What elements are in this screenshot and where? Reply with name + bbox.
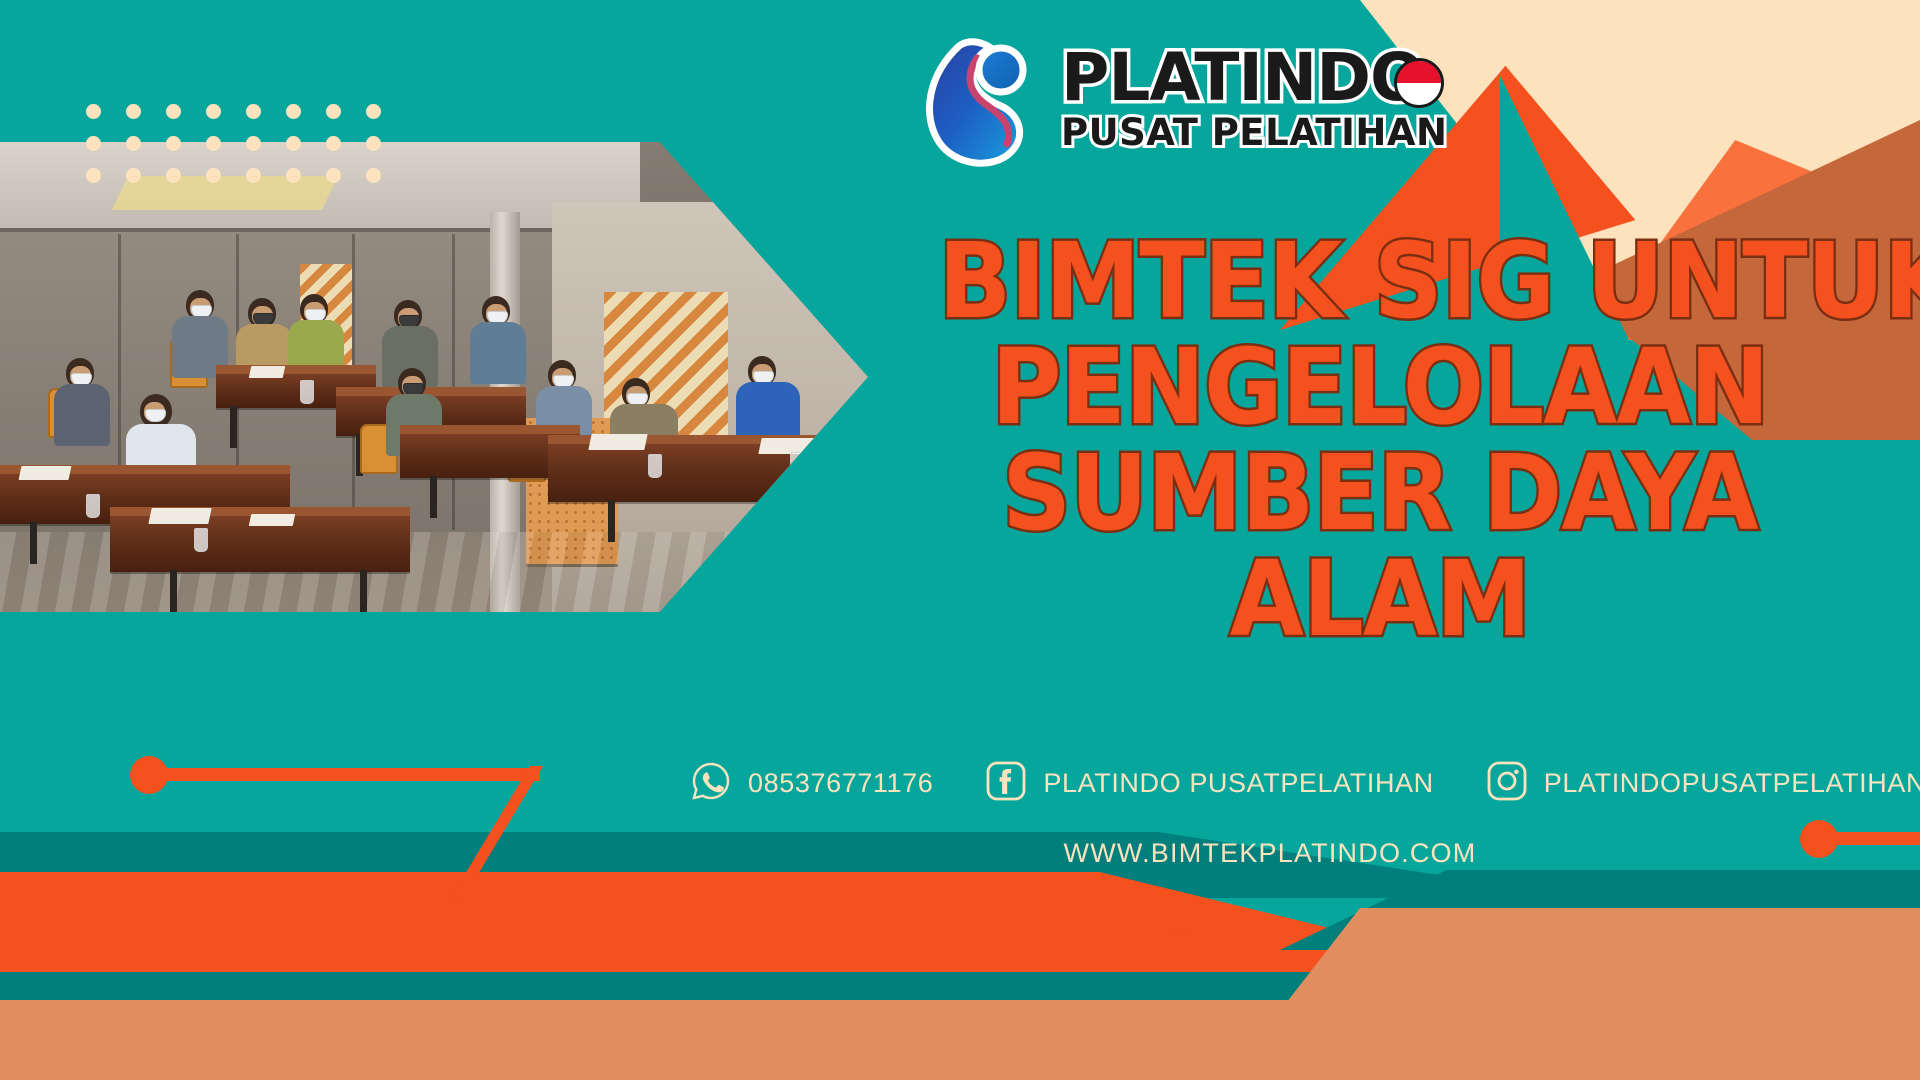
facebook-icon <box>985 760 1027 807</box>
contact-whatsapp[interactable]: 085376771176 <box>690 760 933 807</box>
contact-row: 085376771176 PLATINDO PUSATPELATIHAN PLA… <box>690 760 1850 807</box>
whatsapp-icon <box>690 760 732 807</box>
platindo-flame-logo <box>915 30 1047 170</box>
headline-line-2: PENGELOLAAN <box>938 334 1821 440</box>
connector-node-left <box>130 756 168 794</box>
headline-line-4: ALAM <box>938 546 1821 652</box>
facebook-handle: PLATINDO PUSATPELATIHAN <box>1043 768 1433 799</box>
brand-logo: PLATINDO PUSAT PELATIHAN <box>915 30 1448 170</box>
headline-line-3: SUMBER DAYA <box>938 440 1821 546</box>
contact-facebook[interactable]: PLATINDO PUSATPELATIHAN <box>985 760 1433 807</box>
whatsapp-number: 085376771176 <box>748 768 933 799</box>
contact-instagram[interactable]: PLATINDOPUSATPELATIHAN <box>1486 760 1920 807</box>
brand-tagline: PUSAT PELATIHAN <box>1061 111 1448 154</box>
instagram-icon <box>1486 760 1528 807</box>
instagram-handle: PLATINDOPUSATPELATIHAN <box>1544 768 1920 799</box>
promotional-banner: PLATINDO PUSAT PELATIHAN BIMTEK SIG UNTU… <box>0 0 1920 1080</box>
dot-grid-decoration <box>86 104 406 200</box>
brand-name: PLATINDO <box>1061 46 1448 109</box>
headline: BIMTEK SIG UNTUK PENGELOLAAN SUMBER DAYA… <box>900 228 1860 652</box>
indonesia-flag-icon <box>1394 58 1444 108</box>
headline-line-1: BIMTEK SIG UNTUK <box>938 228 1821 334</box>
seminar-training-room-photo <box>0 142 868 612</box>
website-url[interactable]: WWW.BIMTEKPLATINDO.COM <box>690 838 1850 869</box>
